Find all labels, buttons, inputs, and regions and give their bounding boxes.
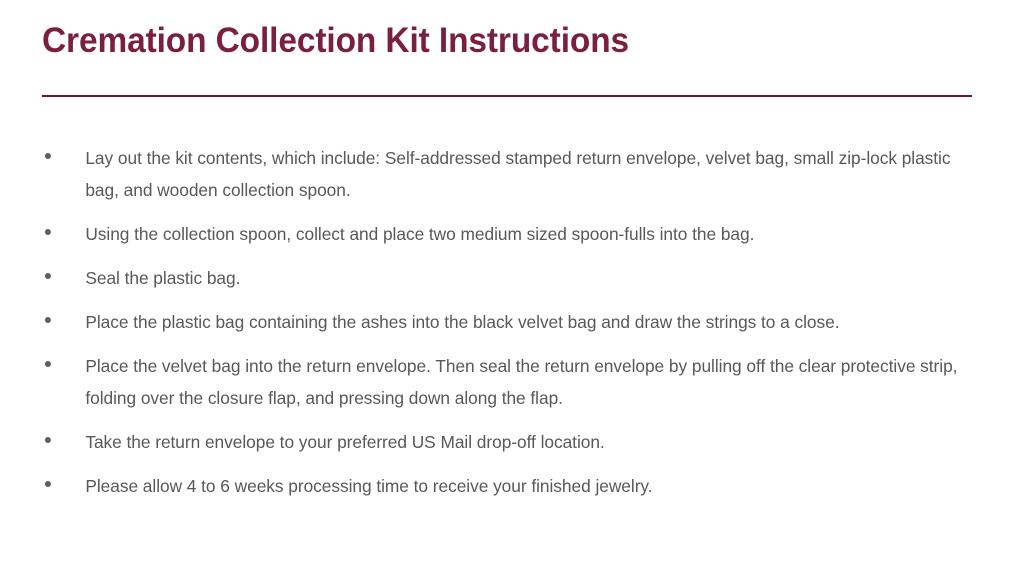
list-item: Place the plastic bag containing the ash… bbox=[42, 306, 964, 338]
list-item-text: Place the velvet bag into the return env… bbox=[85, 350, 964, 414]
list-item: Using the collection spoon, collect and … bbox=[42, 218, 964, 250]
list-item-text: Using the collection spoon, collect and … bbox=[85, 218, 964, 250]
list-item-text: Please allow 4 to 6 weeks processing tim… bbox=[85, 470, 964, 502]
list-item-text: Place the plastic bag containing the ash… bbox=[85, 306, 964, 338]
page-title: Cremation Collection Kit Instructions bbox=[42, 20, 932, 61]
bullet-point-icon bbox=[45, 350, 57, 382]
list-item-text: Take the return envelope to your preferr… bbox=[85, 426, 964, 458]
list-item-text: Lay out the kit contents, which include:… bbox=[85, 142, 964, 206]
list-item: Lay out the kit contents, which include:… bbox=[42, 142, 964, 206]
bullet-point-icon bbox=[45, 306, 57, 338]
title-block: Cremation Collection Kit Instructions bbox=[42, 20, 974, 61]
list-item-text: Seal the plastic bag. bbox=[85, 262, 964, 294]
list-item: Take the return envelope to your preferr… bbox=[42, 426, 964, 458]
bullet-point-icon bbox=[45, 262, 57, 294]
title-divider-rule bbox=[42, 95, 972, 97]
bullet-point-icon bbox=[45, 218, 57, 250]
instructions-list: Lay out the kit contents, which include:… bbox=[42, 142, 978, 502]
bullet-point-icon bbox=[45, 142, 57, 174]
list-item: Place the velvet bag into the return env… bbox=[42, 350, 964, 414]
body-block: Lay out the kit contents, which include:… bbox=[42, 142, 978, 502]
slide-canvas: Cremation Collection Kit Instructions La… bbox=[0, 0, 1024, 585]
list-item: Please allow 4 to 6 weeks processing tim… bbox=[42, 470, 964, 502]
bullet-point-icon bbox=[45, 426, 57, 458]
bullet-point-icon bbox=[45, 470, 57, 502]
list-item: Seal the plastic bag. bbox=[42, 262, 964, 294]
